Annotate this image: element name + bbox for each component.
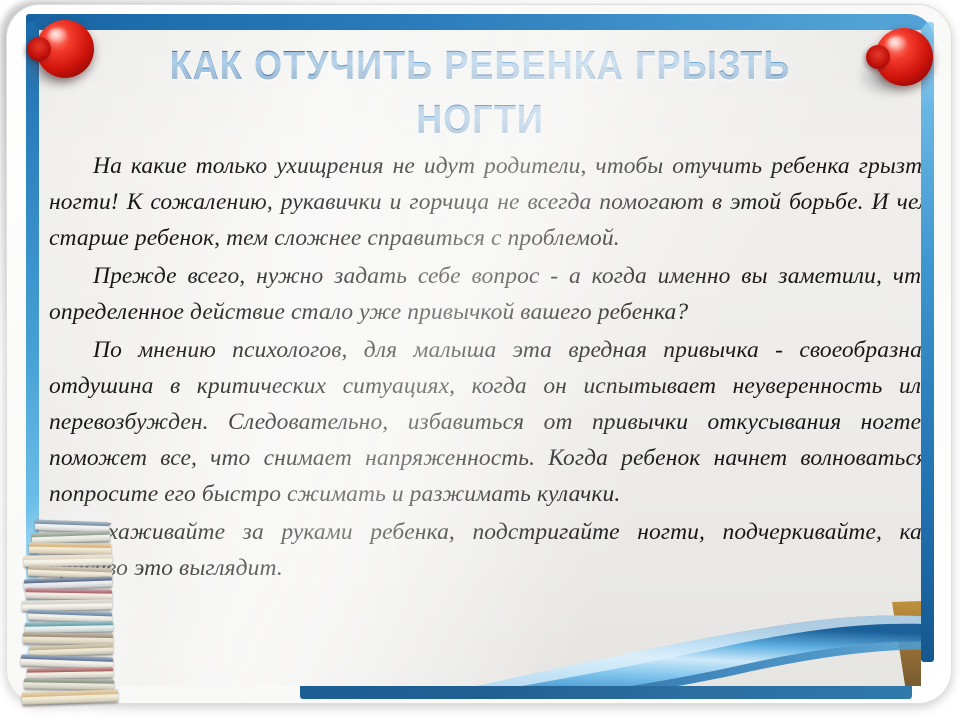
frame-band-top [26,14,910,30]
pushpin-icon [36,20,94,78]
book [24,678,114,691]
frame-band-right [921,22,934,662]
poster-paper: КАК ОТУЧИТЬ РЕБЕНКА ГРЫЗТЬ НОГТИ На каки… [39,30,921,686]
book-pages [24,678,114,691]
page-title: КАК ОТУЧИТЬ РЕБЕНКА ГРЫЗТЬ НОГТИ [39,38,921,146]
paragraph: Прежде всего, нужно задать себе вопрос -… [43,258,921,330]
pushpin-icon [875,28,933,86]
book-stack-icon [8,505,134,717]
frame-band-bottom [300,684,912,699]
article-body: На какие только ухищрения не идут родите… [43,148,921,588]
poster-canvas: КАК ОТУЧИТЬ РЕБЕНКА ГРЫЗТЬ НОГТИ На каки… [0,0,960,720]
paragraph: По мнению психологов, для малыша эта вре… [43,332,921,512]
page-title-line-1: КАК ОТУЧИТЬ РЕБЕНКА ГРЫЗТЬ [92,38,868,92]
paragraph: Ухаживайте за руками ребенка, подстригай… [43,514,921,586]
paragraph: На какие только ухищрения не идут родите… [43,148,921,256]
page-title-line-2: НОГТИ [92,92,868,146]
page-curl-ribbon [307,590,921,686]
